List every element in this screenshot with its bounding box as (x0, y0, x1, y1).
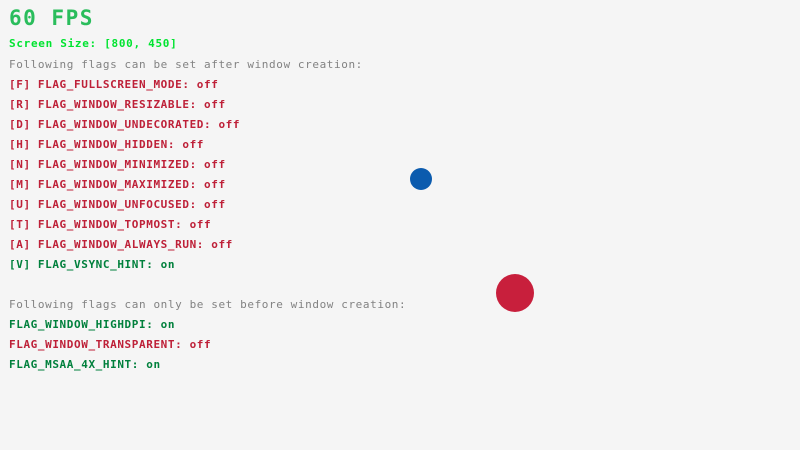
flag-row-window-transparent: FLAG_WINDOW_TRANSPARENT: off (9, 338, 211, 351)
runtime-flags-header: Following flags can be set after window … (9, 58, 363, 71)
flag-row-window-undecorated[interactable]: [D] FLAG_WINDOW_UNDECORATED: off (9, 118, 240, 131)
flag-row-msaa-4x-hint: FLAG_MSAA_4X_HINT: on (9, 358, 161, 371)
screen-size-label: Screen Size: [800, 450] (9, 37, 177, 50)
flag-row-window-resizable[interactable]: [R] FLAG_WINDOW_RESIZABLE: off (9, 98, 226, 111)
fps-counter: 60 FPS (9, 6, 94, 30)
flag-row-window-unfocused[interactable]: [U] FLAG_WINDOW_UNFOCUSED: off (9, 198, 226, 211)
red-ball-shape (496, 274, 534, 312)
raylib-window-canvas[interactable]: 60 FPS Screen Size: [800, 450] Following… (0, 0, 800, 450)
flag-row-fullscreen-mode[interactable]: [F] FLAG_FULLSCREEN_MODE: off (9, 78, 218, 91)
flag-row-window-always-run[interactable]: [A] FLAG_WINDOW_ALWAYS_RUN: off (9, 238, 233, 251)
creation-flags-header: Following flags can only be set before w… (9, 298, 406, 311)
flag-row-vsync-hint[interactable]: [V] FLAG_VSYNC_HINT: on (9, 258, 175, 271)
flag-row-window-minimized[interactable]: [N] FLAG_WINDOW_MINIMIZED: off (9, 158, 226, 171)
blue-ball-shape (410, 168, 432, 190)
flag-row-window-highdpi: FLAG_WINDOW_HIGHDPI: on (9, 318, 175, 331)
flag-row-window-topmost[interactable]: [T] FLAG_WINDOW_TOPMOST: off (9, 218, 211, 231)
flag-row-window-maximized[interactable]: [M] FLAG_WINDOW_MAXIMIZED: off (9, 178, 226, 191)
flag-row-window-hidden[interactable]: [H] FLAG_WINDOW_HIDDEN: off (9, 138, 204, 151)
